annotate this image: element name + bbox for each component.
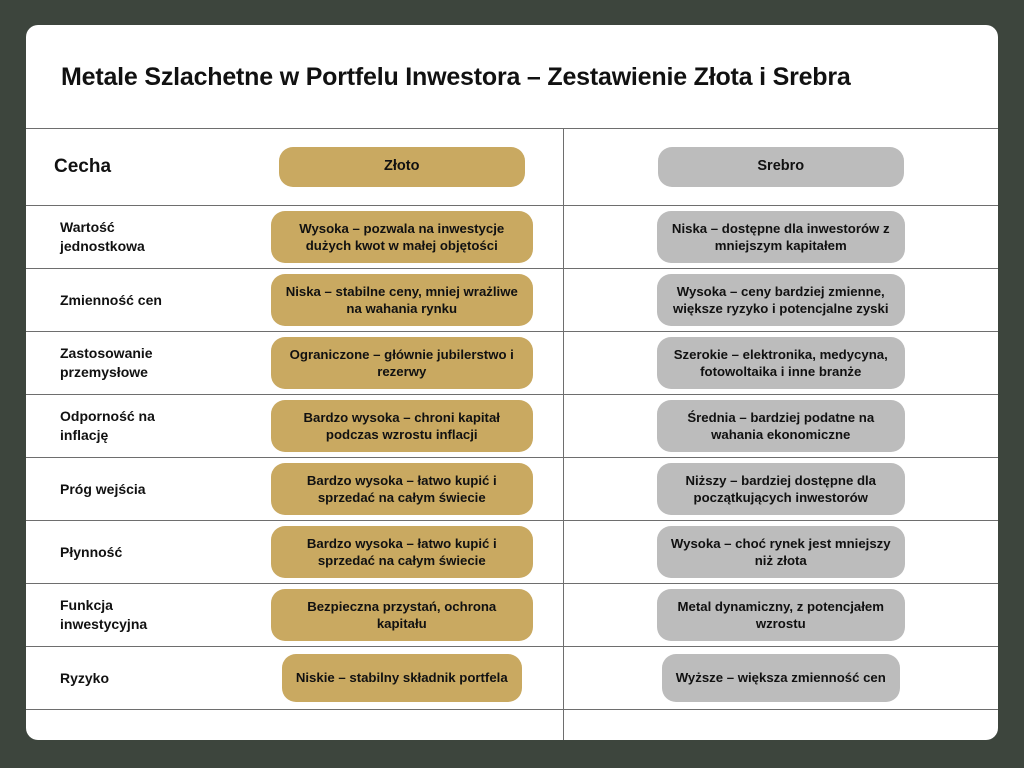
table-row: WartośćjednostkowaWysoka – pozwala na in… [26, 206, 998, 269]
silver-value-pill[interactable]: Metal dynamiczny, z potencjałem wzrostu [657, 589, 905, 642]
table-body: Cecha Złoto Srebro WartośćjednostkowaWys… [26, 129, 998, 741]
gold-cell: Ograniczone – głównie jubilerstwo i reze… [241, 332, 563, 395]
silver-cell: Niska – dostępne dla inwestorów z mniejs… [563, 206, 998, 269]
silver-value-pill[interactable]: Szerokie – elektronika, medycyna, fotowo… [657, 337, 905, 390]
silver-cell: Metal dynamiczny, z potencjałem wzrostu [563, 584, 998, 647]
feature-label: Zastosowanieprzemysłowe [26, 344, 241, 382]
silver-value-pill[interactable]: Wysoka – choć rynek jest mniejszy niż zł… [657, 526, 905, 579]
silver-cell: Niższy – bardziej dostępne dla początkuj… [563, 458, 998, 521]
silver-cell: Wysoka – choć rynek jest mniejszy niż zł… [563, 521, 998, 584]
gold-value-pill[interactable]: Bezpieczna przystań, ochrona kapitału [271, 589, 533, 642]
feature-label: Funkcjainwestycyjna [26, 596, 241, 634]
table-row: FunkcjainwestycyjnaBezpieczna przystań, … [26, 584, 998, 647]
feature-cell: Próg wejścia [26, 458, 241, 521]
feature-header-label: Cecha [26, 156, 241, 178]
feature-cell [26, 710, 241, 741]
feature-cell: Ryzyko [26, 647, 241, 710]
gold-value-pill[interactable]: Bardzo wysoka – łatwo kupić i sprzedać n… [271, 463, 533, 516]
gold-value-pill[interactable]: Niskie – stabilny składnik portfela [282, 654, 522, 702]
feature-label: Odporność nainflację [26, 407, 241, 445]
gold-cell [241, 710, 563, 741]
silver-cell: Wysoka – ceny bardziej zmienne, większe … [563, 269, 998, 332]
silver-cell: Wyższe – większa zmienność cen [563, 647, 998, 710]
silver-cell: Średnia – bardziej podatne na wahania ek… [563, 395, 998, 458]
table-row-empty [26, 710, 998, 741]
feature-cell: Płynność [26, 521, 241, 584]
silver-cell: Szerokie – elektronika, medycyna, fotowo… [563, 332, 998, 395]
gold-cell: Niskie – stabilny składnik portfela [241, 647, 563, 710]
silver-header-cell: Srebro [563, 129, 998, 206]
slide-card: Metale Szlachetne w Portfelu Inwestora –… [26, 25, 998, 740]
comparison-table: Cecha Złoto Srebro WartośćjednostkowaWys… [26, 128, 998, 740]
slide-frame: Metale Szlachetne w Portfelu Inwestora –… [0, 0, 1024, 768]
feature-cell: Wartośćjednostkowa [26, 206, 241, 269]
silver-value-pill[interactable]: Średnia – bardziej podatne na wahania ek… [657, 400, 905, 453]
silver-value-pill[interactable]: Niska – dostępne dla inwestorów z mniejs… [657, 211, 905, 264]
gold-value-pill[interactable]: Wysoka – pozwala na inwestycje dużych kw… [271, 211, 533, 264]
silver-value-pill[interactable]: Niższy – bardziej dostępne dla początkuj… [657, 463, 905, 516]
feature-header-cell: Cecha [26, 129, 241, 206]
gold-cell: Bardzo wysoka – łatwo kupić i sprzedać n… [241, 521, 563, 584]
table-header-row: Cecha Złoto Srebro [26, 129, 998, 206]
table-row: Próg wejściaBardzo wysoka – łatwo kupić … [26, 458, 998, 521]
feature-label: Wartośćjednostkowa [26, 218, 241, 256]
gold-cell: Bardzo wysoka – chroni kapitał podczas w… [241, 395, 563, 458]
gold-cell: Wysoka – pozwala na inwestycje dużych kw… [241, 206, 563, 269]
silver-value-pill[interactable]: Wyższe – większa zmienność cen [662, 654, 900, 702]
gold-cell: Bezpieczna przystań, ochrona kapitału [241, 584, 563, 647]
feature-cell: Funkcjainwestycyjna [26, 584, 241, 647]
table-row: Odporność nainflacjęBardzo wysoka – chro… [26, 395, 998, 458]
feature-label: Próg wejścia [26, 480, 241, 499]
gold-cell: Niska – stabilne ceny, mniej wrażliwe na… [241, 269, 563, 332]
silver-cell [563, 710, 998, 741]
table-row: RyzykoNiskie – stabilny składnik portfel… [26, 647, 998, 710]
feature-cell: Odporność nainflację [26, 395, 241, 458]
title-bar: Metale Szlachetne w Portfelu Inwestora –… [26, 25, 998, 128]
feature-label: Zmienność cen [26, 291, 241, 310]
table-row: Zmienność cenNiska – stabilne ceny, mnie… [26, 269, 998, 332]
silver-header-pill[interactable]: Srebro [658, 147, 904, 187]
silver-value-pill[interactable]: Wysoka – ceny bardziej zmienne, większe … [657, 274, 905, 327]
gold-value-pill[interactable]: Niska – stabilne ceny, mniej wrażliwe na… [271, 274, 533, 327]
page-title: Metale Szlachetne w Portfelu Inwestora –… [61, 62, 851, 92]
feature-label: Ryzyko [26, 669, 241, 688]
feature-label: Płynność [26, 543, 241, 562]
gold-header-pill[interactable]: Złoto [279, 147, 525, 187]
gold-cell: Bardzo wysoka – łatwo kupić i sprzedać n… [241, 458, 563, 521]
gold-header-cell: Złoto [241, 129, 563, 206]
feature-cell: Zastosowanieprzemysłowe [26, 332, 241, 395]
table-row: PłynnośćBardzo wysoka – łatwo kupić i sp… [26, 521, 998, 584]
gold-value-pill[interactable]: Bardzo wysoka – łatwo kupić i sprzedać n… [271, 526, 533, 579]
gold-value-pill[interactable]: Bardzo wysoka – chroni kapitał podczas w… [271, 400, 533, 453]
table-row: ZastosowanieprzemysłoweOgraniczone – głó… [26, 332, 998, 395]
gold-value-pill[interactable]: Ograniczone – głównie jubilerstwo i reze… [271, 337, 533, 390]
feature-cell: Zmienność cen [26, 269, 241, 332]
